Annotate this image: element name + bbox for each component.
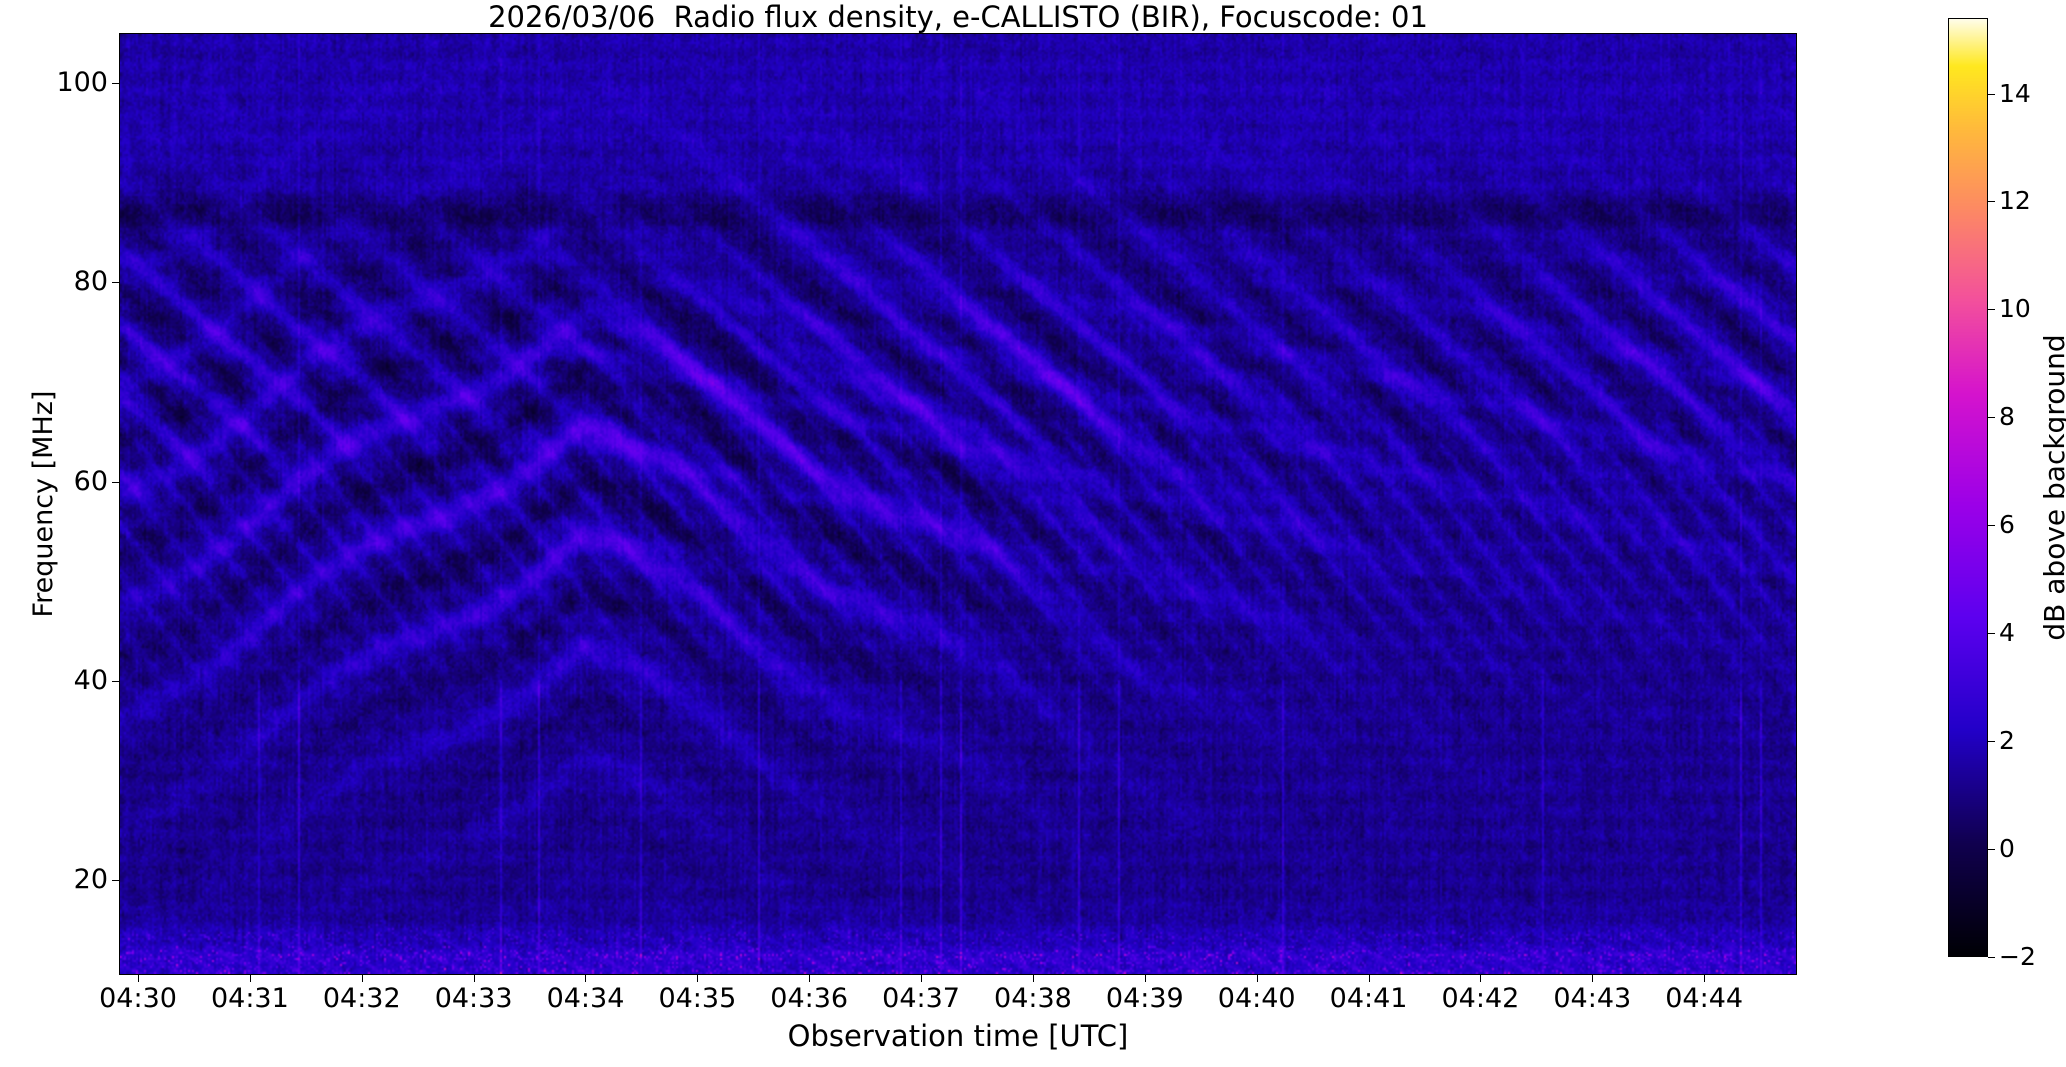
x-tick-mark xyxy=(1480,975,1481,982)
x-tick-label: 04:38 xyxy=(994,984,1072,1014)
x-tick-mark xyxy=(250,975,251,982)
y-tick-mark xyxy=(112,282,119,283)
colorbar-tick-mark xyxy=(1988,849,1995,850)
colorbar-label: dB above background xyxy=(2038,18,2066,957)
x-tick-mark xyxy=(362,975,363,982)
page-title: 2026/03/06 Radio flux density, e-CALLIST… xyxy=(119,2,1797,32)
x-tick-mark xyxy=(1704,975,1705,982)
x-tick-label: 04:44 xyxy=(1665,984,1743,1014)
x-tick-label: 04:36 xyxy=(770,984,848,1014)
y-tick-mark xyxy=(112,880,119,881)
colorbar-tick-label: 14 xyxy=(1999,81,2031,106)
x-tick-mark xyxy=(474,975,475,982)
colorbar-tick-label: 4 xyxy=(1999,620,2015,645)
colorbar-tick-mark xyxy=(1988,525,1995,526)
x-tick-label: 04:40 xyxy=(1218,984,1296,1014)
x-tick-label: 04:43 xyxy=(1553,984,1631,1014)
colorbar-tick-mark xyxy=(1988,201,1995,202)
colorbar-gradient xyxy=(1949,19,1987,956)
colorbar-tick-mark xyxy=(1988,633,1995,634)
x-tick-mark xyxy=(697,975,698,982)
x-tick-label: 04:39 xyxy=(1106,984,1184,1014)
spectrogram-image xyxy=(120,34,1796,974)
colorbar-tick-mark xyxy=(1988,741,1995,742)
y-tick-mark xyxy=(112,83,119,84)
x-tick-mark xyxy=(1033,975,1034,982)
y-tick-label: 20 xyxy=(40,866,108,893)
x-tick-mark xyxy=(1592,975,1593,982)
y-tick-label: 80 xyxy=(40,268,108,295)
x-tick-mark xyxy=(1369,975,1370,982)
colorbar xyxy=(1948,18,1988,957)
x-tick-label: 04:37 xyxy=(882,984,960,1014)
x-tick-mark xyxy=(921,975,922,982)
colorbar-tick-label: 10 xyxy=(1999,296,2031,321)
y-tick-label: 100 xyxy=(40,69,108,96)
colorbar-tick-mark xyxy=(1988,957,1995,958)
colorbar-tick-mark xyxy=(1988,94,1995,95)
x-tick-mark xyxy=(809,975,810,982)
x-tick-label: 04:35 xyxy=(658,984,736,1014)
x-tick-label: 04:42 xyxy=(1442,984,1520,1014)
x-tick-label: 04:41 xyxy=(1330,984,1408,1014)
colorbar-tick-label: 12 xyxy=(1999,188,2031,213)
x-tick-label: 04:30 xyxy=(99,984,177,1014)
colorbar-tick-label: −2 xyxy=(1999,944,2036,969)
spectrogram-axes xyxy=(119,33,1797,975)
y-tick-label: 40 xyxy=(40,667,108,694)
y-tick-mark xyxy=(112,482,119,483)
colorbar-tick-mark xyxy=(1988,417,1995,418)
y-axis-label: Frequency [MHz] xyxy=(28,33,60,975)
x-tick-mark xyxy=(1145,975,1146,982)
figure-canvas: 2026/03/06 Radio flux density, e-CALLIST… xyxy=(0,0,2066,1067)
x-tick-label: 04:31 xyxy=(211,984,289,1014)
x-tick-label: 04:34 xyxy=(547,984,625,1014)
colorbar-tick-label: 8 xyxy=(1999,404,2015,429)
colorbar-tick-label: 2 xyxy=(1999,728,2015,753)
x-tick-mark xyxy=(138,975,139,982)
x-tick-label: 04:33 xyxy=(435,984,513,1014)
x-tick-mark xyxy=(1257,975,1258,982)
y-tick-label: 60 xyxy=(40,468,108,495)
colorbar-tick-label: 6 xyxy=(1999,512,2015,537)
y-tick-mark xyxy=(112,681,119,682)
colorbar-tick-label: 0 xyxy=(1999,836,2015,861)
colorbar-tick-mark xyxy=(1988,309,1995,310)
x-tick-label: 04:32 xyxy=(323,984,401,1014)
x-tick-mark xyxy=(585,975,586,982)
x-axis-label: Observation time [UTC] xyxy=(119,1020,1797,1052)
